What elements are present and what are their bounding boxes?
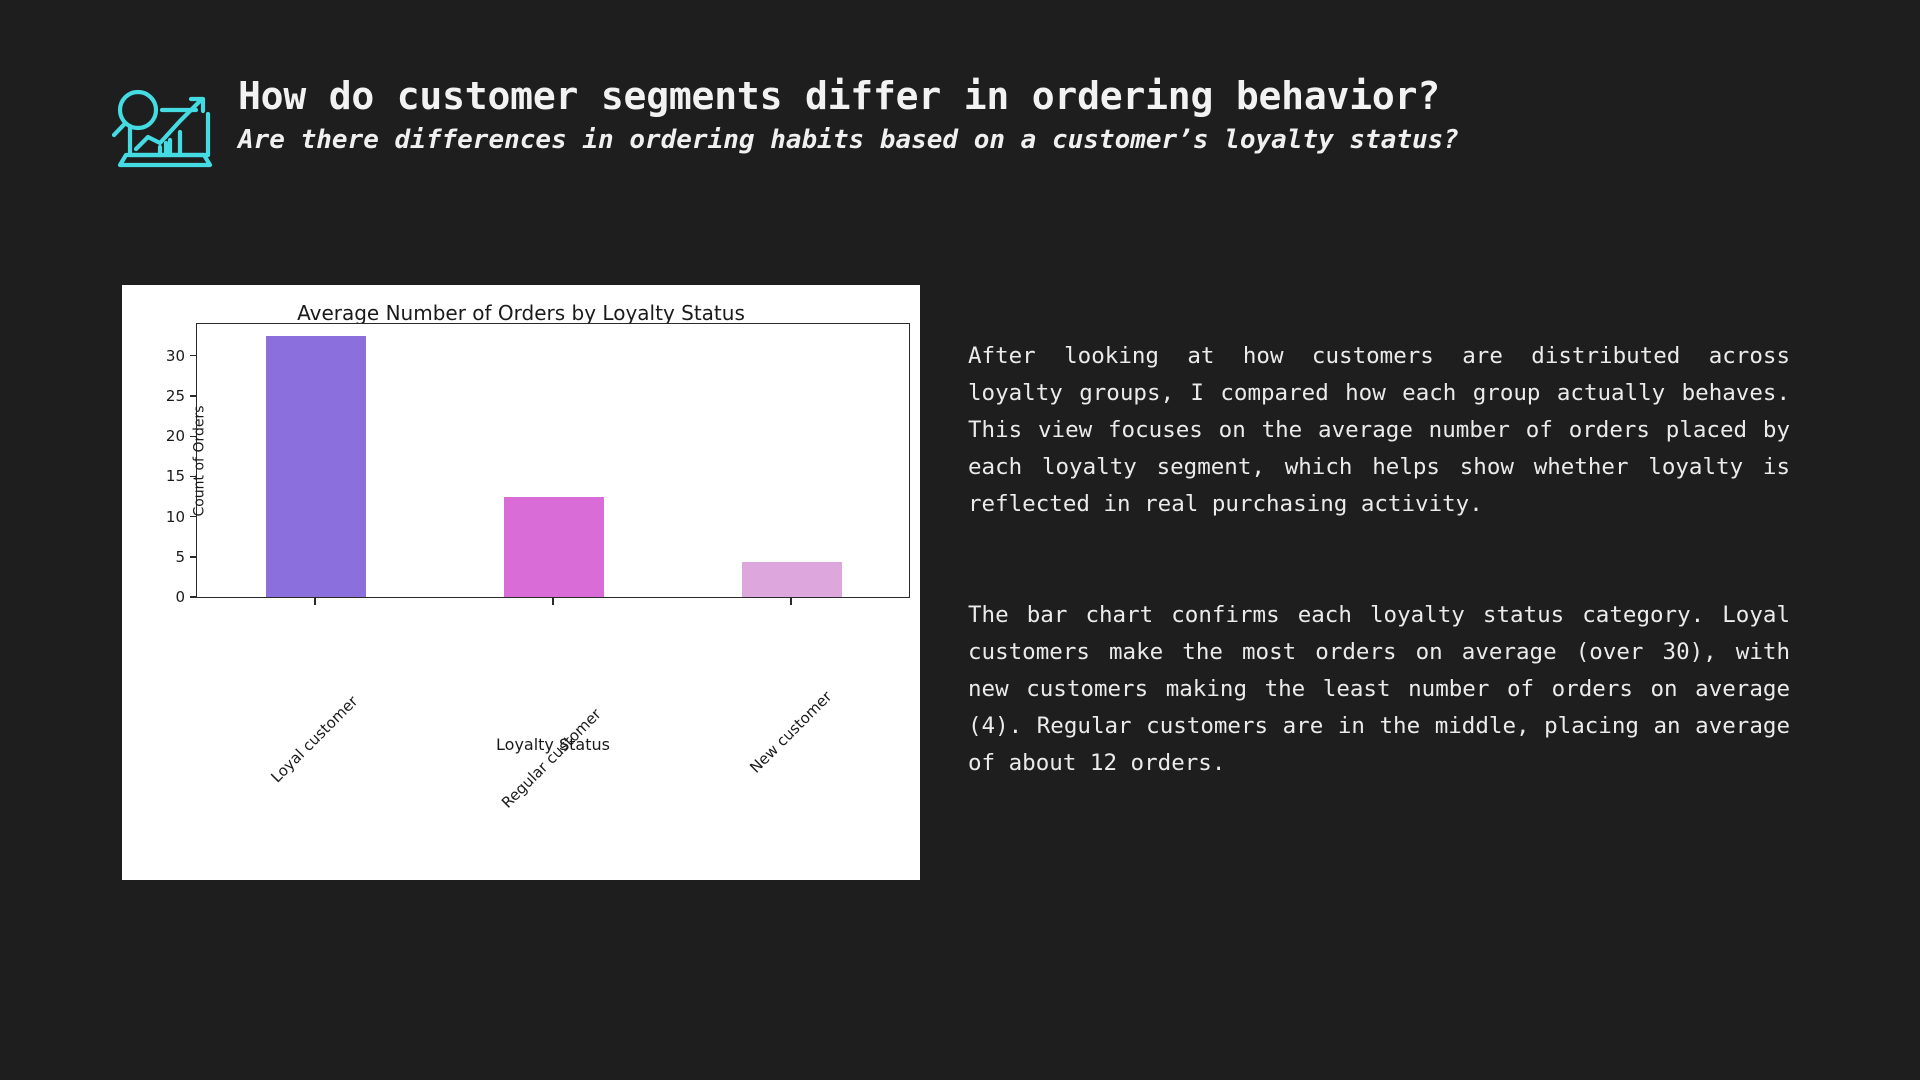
- bar: [742, 562, 842, 597]
- y-tick-label: 25: [166, 387, 185, 405]
- x-tick-label: Regular customer: [498, 705, 605, 812]
- y-tick-mark: [190, 596, 197, 597]
- y-tick-label: 15: [166, 467, 185, 485]
- bar-series: [197, 324, 909, 597]
- x-tick-label: New customer: [746, 687, 835, 776]
- y-tick-mark: [190, 395, 197, 396]
- page-title: How do customer segments differ in order…: [238, 74, 1459, 119]
- y-tick-label: 5: [175, 548, 185, 566]
- chart-search-analytics-icon: [108, 74, 216, 174]
- narrative-panel: After looking at how customers are distr…: [968, 338, 1790, 782]
- y-tick-label: 10: [166, 508, 185, 526]
- narrative-paragraph-2: The bar chart confirms each loyalty stat…: [968, 597, 1790, 782]
- x-tick-mark: [552, 598, 553, 605]
- y-tick-mark: [190, 476, 197, 477]
- page-subtitle: Are there differences in ordering habits…: [238, 125, 1459, 156]
- bar: [266, 336, 366, 597]
- bar: [504, 497, 604, 597]
- x-tick-mark: [314, 598, 315, 605]
- header-text-block: How do customer segments differ in order…: [238, 72, 1459, 156]
- y-tick-label: 0: [175, 588, 185, 606]
- page-header: How do customer segments differ in order…: [108, 72, 1459, 174]
- chart-card: Average Number of Orders by Loyalty Stat…: [122, 285, 920, 880]
- y-tick-label: 30: [166, 347, 185, 365]
- narrative-paragraph-1: After looking at how customers are distr…: [968, 338, 1790, 523]
- chart-title: Average Number of Orders by Loyalty Stat…: [122, 301, 920, 325]
- y-tick-mark: [190, 516, 197, 517]
- y-tick-label: 20: [166, 427, 185, 445]
- y-tick-mark: [190, 355, 197, 356]
- x-axis-label: Loyalty Status: [196, 735, 910, 754]
- y-tick-mark: [190, 556, 197, 557]
- plot-area: Count of Orders 051015202530: [196, 323, 910, 598]
- y-tick-mark: [190, 436, 197, 437]
- x-tick-mark: [790, 598, 791, 605]
